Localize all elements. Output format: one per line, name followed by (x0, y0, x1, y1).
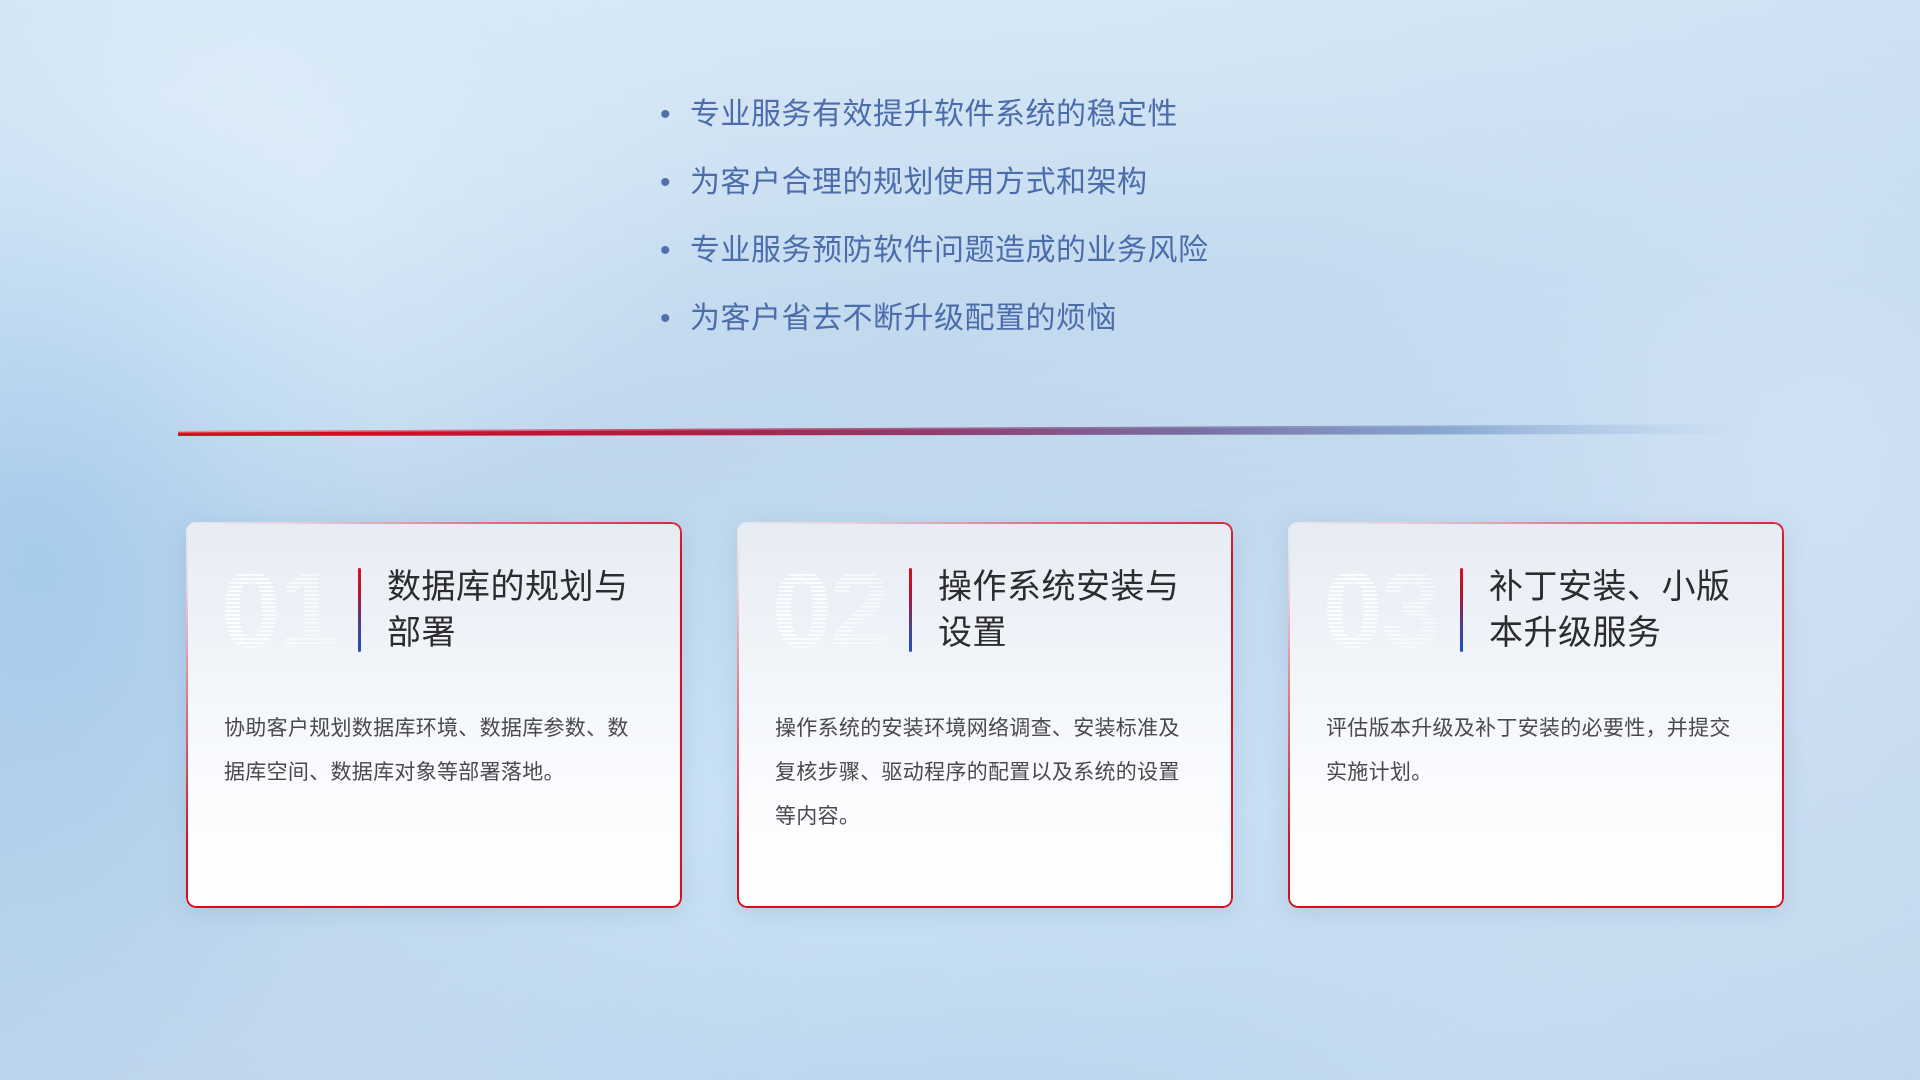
bullet-text: 专业服务预防软件问题造成的业务风险 (690, 232, 1209, 270)
bullet-text: 专业服务有效提升软件系统的稳定性 (690, 96, 1178, 134)
card-description: 操作系统的安装环境网络调查、安装标准及复核步骤、驱动程序的配置以及系统的设置等内… (737, 697, 1233, 839)
card-header: 03 补丁安装、小版本升级服务 (1288, 522, 1784, 697)
card-title: 数据库的规划与部署 (387, 564, 656, 656)
service-card-row: 01 数据库的规划与部署 协助客户规划数据库环境、数据库参数、数据库空间、数据库… (186, 522, 1786, 908)
bullet-dot-icon: • (660, 232, 690, 270)
bullet-dot-icon: • (660, 300, 690, 338)
card-description: 协助客户规划数据库环境、数据库参数、数据库空间、数据库对象等部署落地。 (186, 697, 682, 795)
bullet-text: 为客户省去不断升级配置的烦恼 (690, 300, 1117, 338)
section-divider (178, 420, 1758, 446)
card-title: 操作系统安装与设置 (938, 564, 1207, 656)
bullet-item-3: • 专业服务预防软件问题造成的业务风险 (660, 232, 1560, 270)
card-header: 01 数据库的规划与部署 (186, 522, 682, 697)
card-accent-rule (358, 568, 361, 652)
bullet-dot-icon: • (660, 164, 690, 202)
card-description: 评估版本升级及补丁安装的必要性，并提交实施计划。 (1288, 697, 1784, 795)
slide-canvas: • 专业服务有效提升软件系统的稳定性 • 为客户合理的规划使用方式和架构 • 专… (0, 0, 1920, 1080)
card-title: 补丁安装、小版本升级服务 (1489, 564, 1758, 656)
divider-wedge-icon (178, 420, 1758, 446)
benefits-bullet-list: • 专业服务有效提升软件系统的稳定性 • 为客户合理的规划使用方式和架构 • 专… (660, 96, 1560, 368)
card-number-02: 02 (755, 556, 905, 664)
card-number-03: 03 (1306, 556, 1456, 664)
card-accent-rule (909, 568, 912, 652)
bullet-item-2: • 为客户合理的规划使用方式和架构 (660, 164, 1560, 202)
card-header: 02 操作系统安装与设置 (737, 522, 1233, 697)
bullet-item-4: • 为客户省去不断升级配置的烦恼 (660, 300, 1560, 338)
card-number-01: 01 (204, 556, 354, 664)
card-accent-rule (1460, 568, 1463, 652)
service-card-02[interactable]: 02 操作系统安装与设置 操作系统的安装环境网络调查、安装标准及复核步骤、驱动程… (737, 522, 1233, 908)
service-card-01[interactable]: 01 数据库的规划与部署 协助客户规划数据库环境、数据库参数、数据库空间、数据库… (186, 522, 682, 908)
service-card-03[interactable]: 03 补丁安装、小版本升级服务 评估版本升级及补丁安装的必要性，并提交实施计划。 (1288, 522, 1784, 908)
bullet-text: 为客户合理的规划使用方式和架构 (690, 164, 1148, 202)
bullet-item-1: • 专业服务有效提升软件系统的稳定性 (660, 96, 1560, 134)
bullet-dot-icon: • (660, 96, 690, 134)
